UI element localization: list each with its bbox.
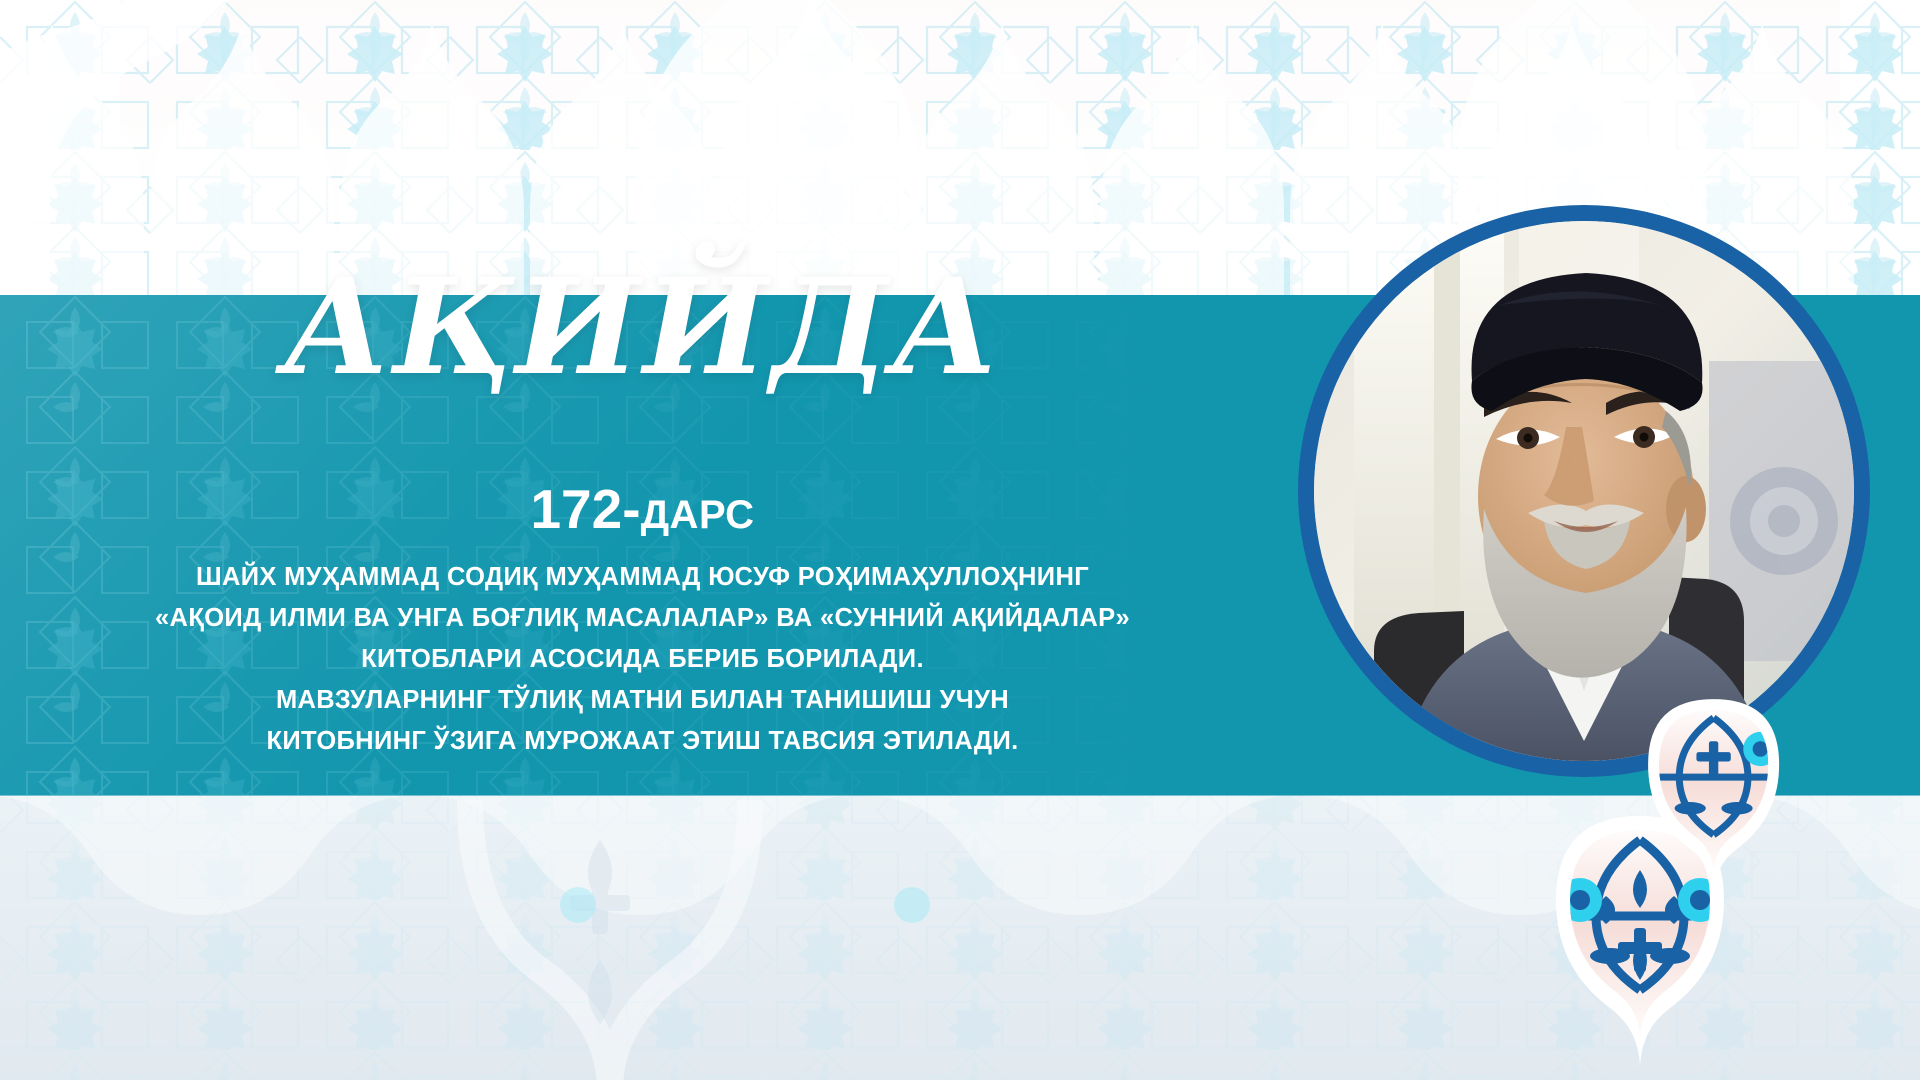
lesson-word: ДАРС xyxy=(641,493,755,537)
poster-canvas: АҚИЙДА 172-ДАРС ШАЙХ МУҲАММАД СОДИҚ МУҲА… xyxy=(0,0,1920,1080)
description-line-4: МАВЗУЛАРНИНГ ТЎЛИҚ МАТНИ БИЛАН ТАНИШИШ У… xyxy=(0,680,1285,721)
lesson-dash: - xyxy=(622,478,640,540)
banner-text-column: АҚИЙДА 172-ДАРС ШАЙХ МУҲАММАД СОДИҚ МУҲА… xyxy=(0,295,1285,795)
description-line-1: ШАЙХ МУҲАММАД СОДИҚ МУҲАММАД ЮСУФ РОҲИМА… xyxy=(0,557,1285,598)
description-line-2: «АҚОИД ИЛМИ ВА УНГА БОҒЛИҚ МАСАЛАЛАР» ВА… xyxy=(0,598,1285,639)
description-line-5: КИТОБНИНГ ЎЗИГА МУРОЖААТ ЭТИШ ТАВСИЯ ЭТИ… xyxy=(0,721,1285,762)
bottom-right-ornament xyxy=(1500,680,1920,1080)
lesson-number-line: 172-ДАРС xyxy=(0,477,1285,541)
description-line-3: КИТОБЛАРИ АСОСИДА БЕРИБ БОРИЛАДИ. xyxy=(0,639,1285,680)
page-title: АҚИЙДА xyxy=(0,262,1285,394)
lesson-number: 172 xyxy=(530,478,622,540)
banner-description: ШАЙХ МУҲАММАД СОДИҚ МУҲАММАД ЮСУФ РОҲИМА… xyxy=(0,557,1285,762)
